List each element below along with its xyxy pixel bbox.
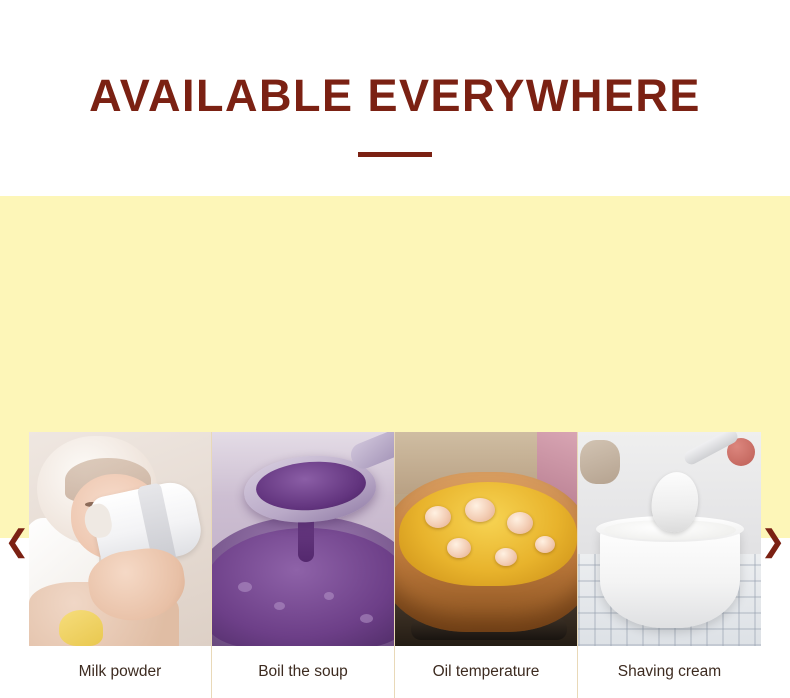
carousel-card-milk-powder[interactable]: Milk powder <box>29 432 212 698</box>
header-section: AVAILABLE EVERYWHERE <box>0 0 790 196</box>
carousel-card-oil-temperature[interactable]: Oil temperature <box>395 432 578 698</box>
soup-bubble-shape <box>324 592 334 600</box>
soup-bubble-shape <box>360 614 373 623</box>
soup-bubble-shape <box>238 582 252 592</box>
milk-powder-photo <box>29 432 211 646</box>
shaving-cream-photo <box>578 432 761 646</box>
card-caption: Shaving cream <box>578 646 761 698</box>
food-piece-shape <box>495 548 517 566</box>
carousel-card-boil-the-soup[interactable]: Boil the soup <box>212 432 395 698</box>
carousel-prev-arrow-icon[interactable]: ❮ <box>4 526 30 558</box>
promo-banner: AVAILABLE EVERYWHERE ❮ ❯ <box>0 0 790 538</box>
yellow-toy-shape <box>59 610 103 646</box>
card-caption: Oil temperature <box>395 646 577 698</box>
food-piece-shape <box>465 498 495 522</box>
background-object-shape <box>580 440 620 484</box>
page-title: AVAILABLE EVERYWHERE <box>0 70 790 122</box>
card-caption: Boil the soup <box>212 646 394 698</box>
food-piece-shape <box>447 538 471 558</box>
boil-the-soup-photo <box>212 432 394 646</box>
carousel-card-shaving-cream[interactable]: Shaving cream <box>578 432 761 698</box>
title-underline <box>358 152 432 157</box>
carousel-card-list: Milk powder Boil the soup <box>29 432 761 698</box>
hot-oil-shape <box>399 482 577 586</box>
oil-temperature-photo <box>395 432 577 646</box>
soup-bubble-shape <box>274 602 285 610</box>
food-piece-shape <box>507 512 533 534</box>
food-piece-shape <box>425 506 451 528</box>
carousel-next-arrow-icon[interactable]: ❯ <box>760 526 786 558</box>
card-caption: Milk powder <box>29 646 211 698</box>
food-piece-shape <box>535 536 555 553</box>
carousel-band: ❮ ❯ Milk powder <box>0 196 790 538</box>
